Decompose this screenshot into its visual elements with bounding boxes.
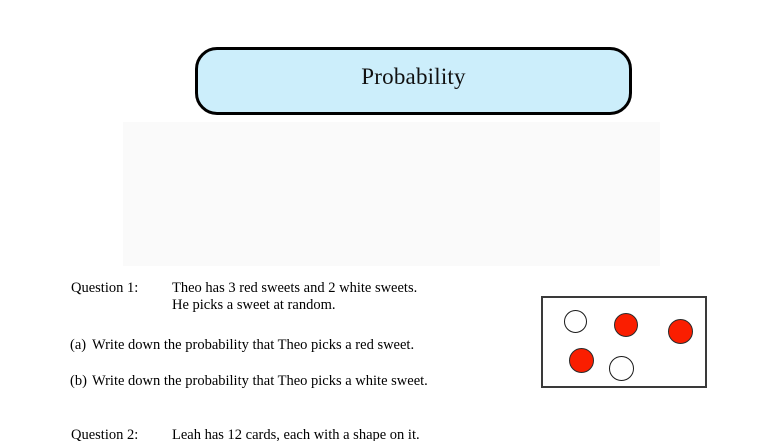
part-b-text: Write down the probability that Theo pic… (92, 373, 428, 390)
part-a-text: Write down the probability that Theo pic… (92, 337, 414, 354)
question-1-block: Question 1: Theo has 3 red sweets and 2 … (71, 280, 541, 314)
sweet-red (569, 348, 594, 373)
question-2-block: Question 2: Leah has 12 cards, each with… (71, 427, 541, 441)
question-1-line-2: He picks a sweet at random. (172, 297, 541, 314)
question-2-label: Question 2: (71, 427, 172, 441)
title-banner: Probability (195, 47, 632, 115)
sweets-diagram (541, 296, 707, 388)
question-2-line-1: Leah has 12 cards, each with a shape on … (172, 427, 541, 441)
part-b-tag: (b) (70, 373, 92, 390)
question-1-first-line: Question 1: Theo has 3 red sweets and 2 … (71, 280, 541, 297)
question-1-label: Question 1: (71, 280, 172, 297)
sweet-white (564, 310, 587, 333)
part-a-tag: (a) (70, 337, 92, 354)
sweet-red (614, 313, 638, 337)
question-1-line-1: Theo has 3 red sweets and 2 white sweets… (172, 280, 541, 297)
sweet-red (668, 319, 693, 344)
question-1-part-a: (a) Write down the probability that Theo… (70, 337, 414, 354)
question-1-part-b: (b) Write down the probability that Theo… (70, 373, 428, 390)
sweet-white (609, 356, 634, 381)
page-title: Probability (361, 65, 465, 88)
empty-content-panel (123, 122, 660, 266)
worksheet-page: Probability Question 1: Theo has 3 red s… (0, 0, 784, 441)
